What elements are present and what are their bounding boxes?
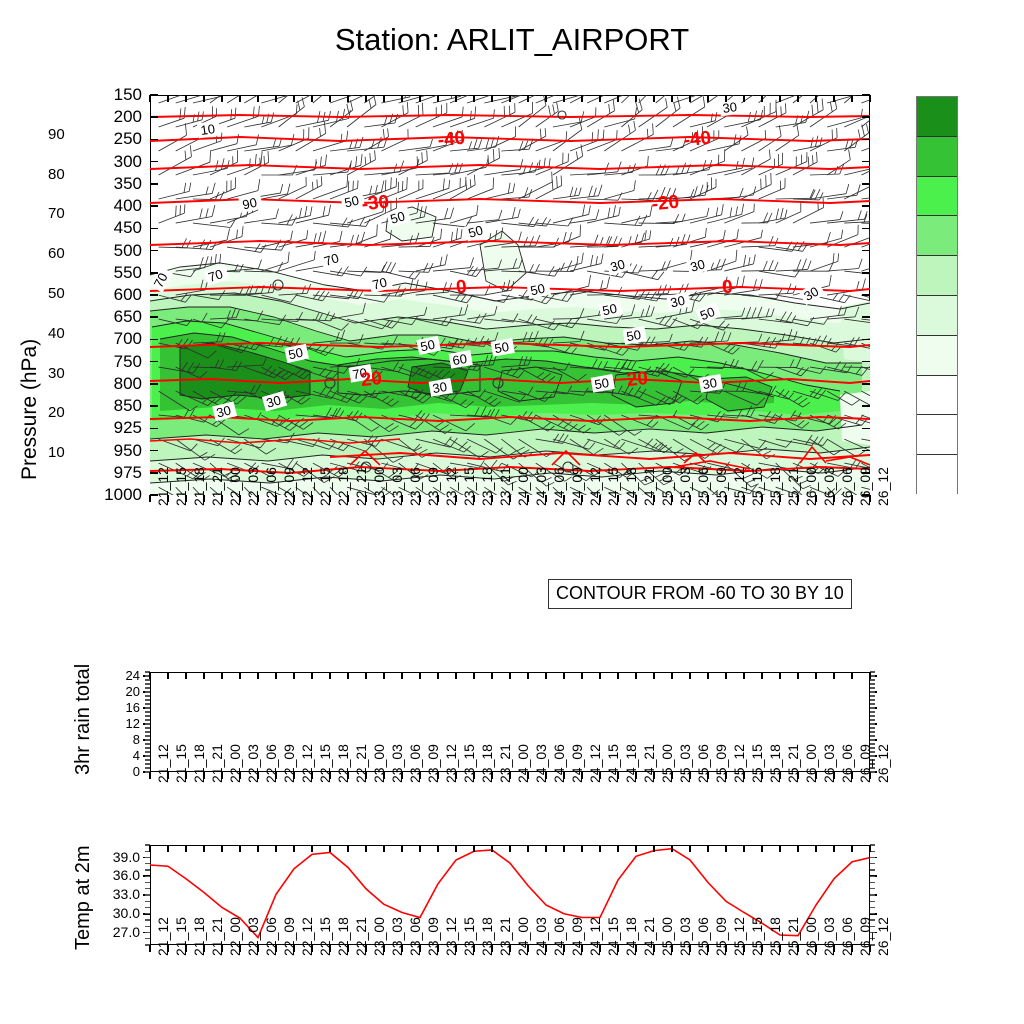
x-tick-top [833, 672, 834, 679]
x-tick-label: 22_03 [245, 917, 261, 956]
x-tick-label: 26_00 [803, 467, 819, 506]
y-tick-right [862, 161, 870, 163]
x-tick-top [671, 95, 672, 102]
x-tick-top [797, 845, 798, 852]
y-tick-label: 4 [98, 749, 140, 762]
y-tick [150, 316, 158, 318]
y-minor-tick [145, 691, 150, 692]
y-tick-label: 750 [72, 353, 142, 370]
x-tick-top [851, 845, 852, 852]
x-tick-label: 24_00 [515, 467, 531, 506]
y-tick [150, 205, 158, 207]
x-tick-top [257, 845, 258, 852]
y-tick-label: 250 [72, 130, 142, 147]
x-tick-label: 25_03 [677, 917, 693, 956]
svg-text:-40: -40 [437, 128, 467, 152]
y-tick-right [862, 361, 870, 363]
y-tick [150, 383, 158, 385]
x-tick-top [347, 845, 348, 852]
svg-text:60: 60 [451, 351, 468, 368]
y-tick-right [862, 250, 870, 252]
y-tick-right [862, 405, 870, 407]
x-tick-label: 22_21 [353, 467, 369, 506]
x-tick-label: 22_12 [299, 917, 315, 956]
x-tick-label: 23_06 [407, 744, 423, 783]
x-tick-label: 22_09 [281, 917, 297, 956]
x-tick [149, 495, 150, 502]
y-minor-tick [870, 703, 875, 704]
x-tick-top [383, 95, 384, 102]
x-tick-top [725, 672, 726, 679]
x-tick-top [833, 845, 834, 852]
svg-text:30: 30 [669, 293, 686, 311]
x-tick-label: 26_06 [839, 917, 855, 956]
x-tick-top [671, 845, 672, 852]
y-minor-tick [145, 743, 150, 744]
y-minor-tick [870, 715, 875, 716]
x-tick-top [851, 95, 852, 102]
y-tick-label: 20 [98, 685, 140, 698]
x-tick-top [815, 95, 816, 102]
colorbar-band [917, 177, 957, 217]
x-tick-top [203, 672, 204, 679]
x-tick-label: 22_12 [299, 467, 315, 506]
x-tick-top [671, 672, 672, 679]
x-tick-top [725, 95, 726, 102]
x-tick-label: 21_12 [155, 744, 171, 783]
y-tick [150, 361, 158, 363]
colorbar-band [917, 415, 957, 455]
y-tick-label: 33.0 [88, 887, 140, 901]
x-tick-top [221, 845, 222, 852]
svg-text:30: 30 [431, 379, 448, 396]
xsec-y-axis-title: Pressure (hPa) [18, 339, 42, 480]
x-tick-label: 24_12 [587, 467, 603, 506]
x-tick-label: 25_09 [713, 744, 729, 783]
svg-text:30: 30 [722, 99, 738, 116]
x-tick-label: 25_00 [659, 744, 675, 783]
svg-text:50: 50 [287, 345, 304, 363]
y-minor-tick [870, 727, 875, 728]
x-tick-top [239, 672, 240, 679]
x-tick-label: 25_12 [731, 744, 747, 783]
x-tick-top [707, 845, 708, 852]
x-tick-label: 23_03 [389, 467, 405, 506]
y-minor-tick [145, 907, 150, 908]
colorbar-band [917, 137, 957, 177]
y-tick-label: 800 [72, 375, 142, 392]
x-tick-label: 22_00 [227, 744, 243, 783]
cross-section-canvas: 10 30 90 50 70 70 50 50 30 30 70 70 50 3… [150, 95, 870, 495]
x-tick-top [689, 845, 690, 852]
x-tick-top [491, 845, 492, 852]
x-tick-top [167, 672, 168, 679]
y-minor-tick [145, 679, 150, 680]
svg-text:50: 50 [601, 301, 618, 319]
x-tick-top [779, 95, 780, 102]
y-minor-tick [145, 711, 150, 712]
x-tick-label: 23_09 [425, 467, 441, 506]
x-tick-top [383, 672, 384, 679]
x-tick-label: 24_03 [533, 744, 549, 783]
x-tick-label: 22_06 [263, 744, 279, 783]
x-tick-label: 26_12 [875, 744, 891, 783]
y-minor-tick [145, 683, 150, 684]
x-tick-label: 24_03 [533, 467, 549, 506]
x-tick-label: 25_15 [749, 467, 765, 506]
y-tick-label: 150 [72, 86, 142, 103]
x-tick-label: 22_09 [281, 744, 297, 783]
x-tick-top [689, 95, 690, 102]
x-tick-top [743, 95, 744, 102]
y-minor-tick [145, 882, 150, 883]
x-tick-label: 22_21 [353, 917, 369, 956]
x-tick-label: 21_18 [191, 917, 207, 956]
y-minor-tick [145, 699, 150, 700]
x-tick-top [329, 845, 330, 852]
x-tick-label: 25_12 [731, 917, 747, 956]
y-tick-right [862, 183, 870, 185]
x-tick-top [581, 95, 582, 102]
y-minor-tick [870, 888, 875, 889]
y-tick-right [862, 316, 870, 318]
svg-text:20: 20 [626, 368, 649, 391]
x-tick-label: 23_12 [443, 917, 459, 956]
svg-text:90: 90 [241, 195, 258, 213]
y-minor-tick [870, 711, 875, 712]
x-tick-top [401, 845, 402, 852]
x-tick-label: 25_15 [749, 917, 765, 956]
y-tick [150, 250, 158, 252]
x-tick-label: 25_00 [659, 467, 675, 506]
y-minor-tick [870, 876, 875, 877]
y-tick [150, 228, 158, 230]
x-tick-top [455, 845, 456, 852]
x-tick-top [797, 95, 798, 102]
colorbar-band [917, 97, 957, 137]
y-minor-tick [145, 869, 150, 870]
y-minor-tick [145, 719, 150, 720]
y-tick-right [862, 139, 870, 141]
y-tick-right [862, 383, 870, 385]
x-tick-label: 24_18 [623, 744, 639, 783]
x-tick-top [365, 672, 366, 679]
svg-text:50: 50 [419, 337, 436, 355]
x-tick-top [563, 672, 564, 679]
x-tick-label: 22_18 [335, 467, 351, 506]
x-tick-top [761, 95, 762, 102]
y-minor-tick [145, 751, 150, 752]
x-tick-top [545, 95, 546, 102]
y-minor-tick [145, 938, 150, 939]
x-tick-label: 25_06 [695, 744, 711, 783]
y-minor-tick [870, 699, 875, 700]
y-minor-tick [145, 695, 150, 696]
y-tick-label: 975 [72, 464, 142, 481]
x-tick-label: 24_21 [641, 744, 657, 783]
x-tick-top [491, 95, 492, 102]
x-tick-label: 22_06 [263, 467, 279, 506]
y-minor-tick [870, 907, 875, 908]
y-tick-label: 30.0 [88, 906, 140, 920]
x-tick-label: 23_00 [371, 467, 387, 506]
y-minor-tick [145, 715, 150, 716]
x-tick-label: 22_03 [245, 744, 261, 783]
x-tick-label: 25_06 [695, 917, 711, 956]
x-tick-top [509, 95, 510, 102]
y-minor-tick [870, 869, 875, 870]
y-minor-tick [870, 851, 875, 852]
x-tick-label: 26_03 [821, 744, 837, 783]
x-tick-label: 23_15 [461, 467, 477, 506]
x-tick-label: 24_00 [515, 917, 531, 956]
colorbar-tick-label: 80 [48, 166, 65, 183]
y-tick-label: 1000 [72, 486, 142, 503]
y-minor-tick [870, 707, 875, 708]
x-tick-top [599, 95, 600, 102]
x-tick-top [455, 672, 456, 679]
x-tick-top [293, 95, 294, 102]
x-tick-label: 26_00 [803, 917, 819, 956]
y-minor-tick [145, 919, 150, 920]
y-tick-label: 700 [72, 330, 142, 347]
x-tick-top [437, 95, 438, 102]
x-tick-label: 22_15 [317, 467, 333, 506]
x-tick-top [167, 95, 168, 102]
svg-text:-40: -40 [683, 128, 713, 152]
x-tick-label: 25_21 [785, 744, 801, 783]
x-tick-top [797, 672, 798, 679]
x-tick-top [275, 672, 276, 679]
y-tick [150, 161, 158, 163]
y-minor-tick [870, 863, 875, 864]
x-tick-label: 24_06 [551, 917, 567, 956]
colorbar-tick-label: 70 [48, 205, 65, 222]
y-tick-label: 850 [72, 397, 142, 414]
x-tick-label: 24_09 [569, 744, 585, 783]
y-minor-tick [145, 707, 150, 708]
x-tick-label: 21_15 [173, 744, 189, 783]
x-tick-top [581, 672, 582, 679]
y-minor-tick [145, 857, 150, 858]
x-tick-label: 23_12 [443, 467, 459, 506]
y-tick-right [862, 428, 870, 430]
x-tick-label: 22_00 [227, 917, 243, 956]
y-minor-tick [870, 739, 875, 740]
svg-text:0: 0 [721, 277, 734, 299]
x-tick-label: 24_15 [605, 917, 621, 956]
y-tick-right [862, 339, 870, 341]
y-tick [150, 183, 158, 185]
x-tick-top [347, 95, 348, 102]
x-tick-label: 25_21 [785, 917, 801, 956]
x-tick-top [311, 845, 312, 852]
page-title: Station: ARLIT_AIRPORT [0, 22, 1024, 58]
x-tick-label: 24_12 [587, 917, 603, 956]
y-tick [150, 450, 158, 452]
x-tick-label: 24_03 [533, 917, 549, 956]
x-tick-top [725, 845, 726, 852]
x-tick-top [545, 845, 546, 852]
y-tick-label: 27.0 [88, 925, 140, 939]
x-tick-top [419, 95, 420, 102]
x-tick-top [869, 95, 870, 102]
x-tick-top [761, 845, 762, 852]
x-tick-top [545, 672, 546, 679]
y-minor-tick [145, 888, 150, 889]
y-minor-tick [145, 723, 150, 724]
x-tick-top [149, 845, 150, 852]
colorbar-tick-label: 20 [48, 404, 65, 421]
colorbar-band [917, 336, 957, 376]
x-tick-top [653, 95, 654, 102]
x-tick-label: 21_21 [209, 467, 225, 506]
x-tick-top [473, 672, 474, 679]
x-tick-top [599, 672, 600, 679]
y-tick-label: 400 [72, 197, 142, 214]
y-tick [150, 139, 158, 141]
colorbar-band [917, 296, 957, 336]
svg-text:50: 50 [343, 193, 360, 211]
x-tick-label: 25_09 [713, 917, 729, 956]
y-tick-label: 24 [98, 669, 140, 682]
y-minor-tick [870, 679, 875, 680]
x-tick-label: 23_09 [425, 744, 441, 783]
x-tick-label: 26_09 [857, 917, 873, 956]
y-minor-tick [145, 926, 150, 927]
x-tick-label: 24_00 [515, 744, 531, 783]
svg-text:-20: -20 [651, 192, 681, 216]
y-minor-tick [145, 894, 150, 895]
x-tick-label: 24_09 [569, 467, 585, 506]
svg-text:50: 50 [529, 281, 546, 299]
x-tick-label: 22_21 [353, 744, 369, 783]
x-tick-top [221, 672, 222, 679]
colorbar [916, 96, 958, 494]
x-tick-label: 22_15 [317, 744, 333, 783]
y-tick [150, 339, 158, 341]
x-tick-top [653, 845, 654, 852]
x-tick-label: 26_09 [857, 744, 873, 783]
x-tick-top [869, 845, 870, 852]
x-tick-label: 23_00 [371, 744, 387, 783]
y-tick-label: 36.0 [88, 868, 140, 882]
y-tick-label: 350 [72, 175, 142, 192]
x-tick-top [257, 95, 258, 102]
x-tick-label: 24_18 [623, 467, 639, 506]
y-minor-tick [145, 739, 150, 740]
x-tick-label: 23_21 [497, 917, 513, 956]
y-minor-tick [145, 763, 150, 764]
x-tick-label: 25_21 [785, 467, 801, 506]
y-minor-tick [870, 913, 875, 914]
x-tick-label: 24_18 [623, 917, 639, 956]
x-tick-label: 25_18 [767, 744, 783, 783]
x-tick-top [833, 95, 834, 102]
x-tick-top [635, 672, 636, 679]
y-minor-tick [145, 876, 150, 877]
y-tick [150, 294, 158, 296]
svg-text:50: 50 [625, 327, 642, 344]
y-tick-label: 12 [98, 717, 140, 730]
x-tick-top [311, 672, 312, 679]
x-tick-top [779, 845, 780, 852]
x-tick-label: 22_18 [335, 917, 351, 956]
y-tick-label: 925 [72, 419, 142, 436]
x-tick-top [509, 845, 510, 852]
colorbar-band [917, 376, 957, 416]
x-tick-top [563, 95, 564, 102]
x-tick-label: 26_09 [857, 467, 873, 506]
x-tick-top [329, 95, 330, 102]
svg-text:50: 50 [493, 339, 510, 356]
x-tick-top [347, 672, 348, 679]
x-tick-top [635, 95, 636, 102]
y-minor-tick [870, 723, 875, 724]
x-tick-top [383, 845, 384, 852]
x-tick-label: 24_06 [551, 467, 567, 506]
y-tick-label: 0 [98, 765, 140, 778]
x-tick-top [185, 845, 186, 852]
x-tick-top [203, 95, 204, 102]
y-minor-tick [870, 894, 875, 895]
x-tick-top [491, 672, 492, 679]
x-tick-top [455, 95, 456, 102]
x-tick-label: 26_06 [839, 467, 855, 506]
x-tick-label: 23_18 [479, 917, 495, 956]
svg-text:0: 0 [455, 277, 468, 299]
x-tick-top [743, 672, 744, 679]
svg-text:10: 10 [200, 121, 216, 138]
y-minor-tick [145, 687, 150, 688]
y-minor-tick [870, 675, 875, 676]
contour-range-caption: CONTOUR FROM -60 TO 30 BY 10 [548, 579, 852, 609]
x-tick-label: 23_18 [479, 744, 495, 783]
x-tick-top [815, 845, 816, 852]
x-tick-label: 25_15 [749, 744, 765, 783]
x-tick-label: 25_18 [767, 467, 783, 506]
x-tick-top [401, 95, 402, 102]
x-tick-top [509, 672, 510, 679]
x-tick-label: 23_09 [425, 917, 441, 956]
x-tick-top [779, 672, 780, 679]
x-tick-top [581, 845, 582, 852]
y-minor-tick [870, 695, 875, 696]
x-tick-top [707, 95, 708, 102]
y-minor-tick [870, 683, 875, 684]
x-tick-top [149, 672, 150, 679]
x-tick-top [275, 95, 276, 102]
x-tick [149, 772, 150, 779]
y-minor-tick [145, 767, 150, 768]
x-tick-label: 23_21 [497, 744, 513, 783]
x-tick-top [689, 672, 690, 679]
x-tick-label: 24_09 [569, 917, 585, 956]
y-minor-tick [145, 932, 150, 933]
x-tick-top [617, 95, 618, 102]
colorbar-tick-label: 30 [48, 365, 65, 382]
y-tick-label: 450 [72, 219, 142, 236]
x-tick-label: 26_06 [839, 744, 855, 783]
x-tick-label: 26_12 [875, 917, 891, 956]
x-tick-label: 23_00 [371, 917, 387, 956]
x-tick-label: 24_21 [641, 917, 657, 956]
y-tick-label: 600 [72, 286, 142, 303]
colorbar-tick-label: 90 [48, 126, 65, 143]
x-tick-label: 21_18 [191, 744, 207, 783]
x-tick-label: 24_06 [551, 744, 567, 783]
x-tick-top [851, 672, 852, 679]
